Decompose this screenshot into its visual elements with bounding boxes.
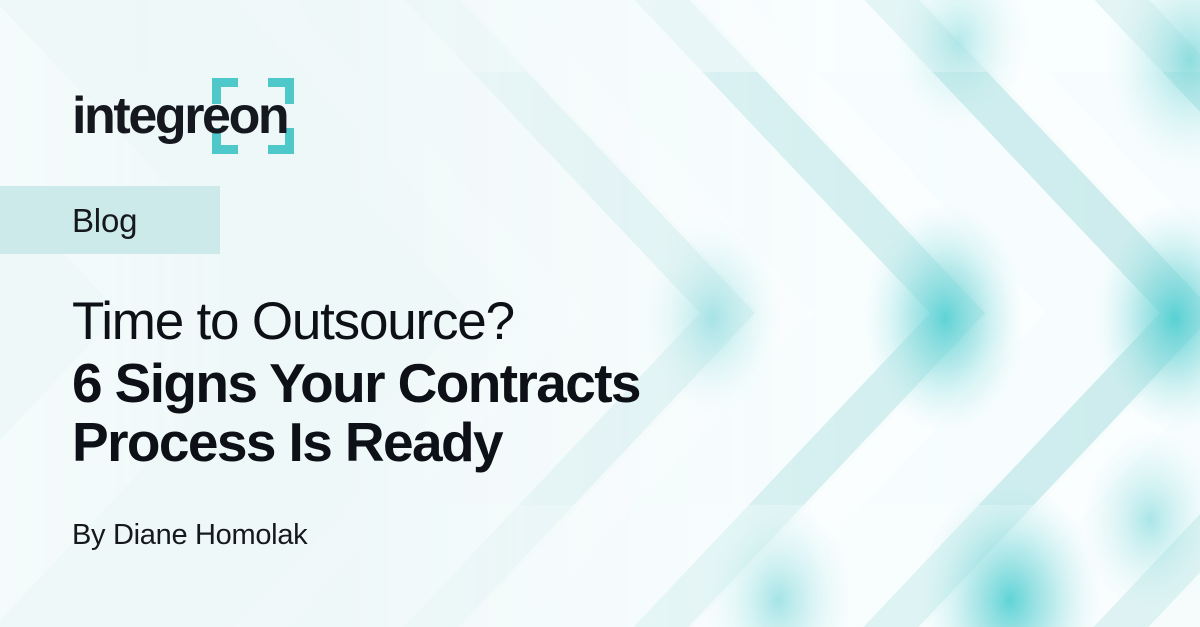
byline: By Diane Homolak bbox=[72, 518, 307, 553]
integreon-wordmark: integreon bbox=[72, 87, 287, 145]
category-badge[interactable]: Blog bbox=[0, 186, 220, 254]
page-title: Time to Outsource? 6 Signs Your Contract… bbox=[72, 295, 902, 470]
blog-hero-card: integreon Blog Time to Outsource? 6 Sign… bbox=[0, 0, 1200, 627]
integreon-logo[interactable]: integreon bbox=[72, 76, 304, 162]
title-line-1: Time to Outsource? bbox=[72, 295, 902, 348]
title-line-2: 6 Signs Your Contracts bbox=[72, 356, 902, 411]
category-badge-label: Blog bbox=[72, 204, 137, 237]
title-line-3: Process Is Ready bbox=[72, 415, 902, 470]
